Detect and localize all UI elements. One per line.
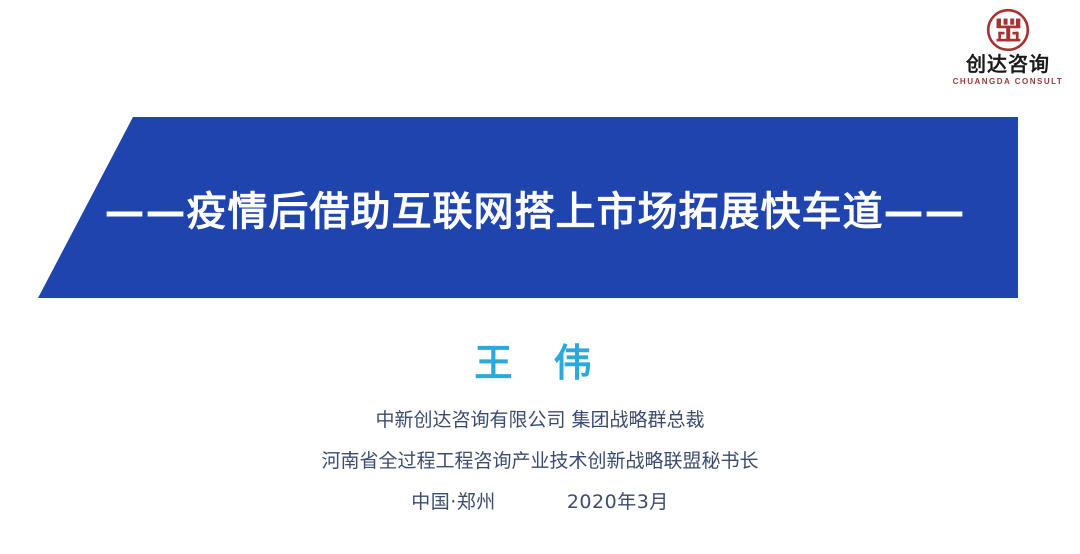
affiliation-line-2: 河南省全过程工程咨询产业技术创新战略联盟秘书长 xyxy=(0,441,1080,482)
event-line: 中国·郑州 2020年3月 xyxy=(0,482,1080,523)
company-logo: 创达咨询 CHUANGDA CONSULT xyxy=(950,8,1066,86)
speaker-name: 王 伟 xyxy=(0,332,1080,387)
company-seal-icon xyxy=(986,8,1030,52)
speaker-info: 中新创达咨询有限公司 集团战略群总裁 河南省全过程工程咨询产业技术创新战略联盟秘… xyxy=(0,400,1080,523)
title-slide: 创达咨询 CHUANGDA CONSULT ——疫情后借助互联网搭上市场拓展快车… xyxy=(0,0,1080,554)
event-location: 中国·郑州 xyxy=(411,491,496,513)
title-banner: ——疫情后借助互联网搭上市场拓展快车道—— xyxy=(38,117,1018,298)
logo-name-en: CHUANGDA CONSULT xyxy=(950,78,1066,86)
affiliation-line-1: 中新创达咨询有限公司 集团战略群总裁 xyxy=(0,400,1080,441)
event-date: 2020年3月 xyxy=(567,491,669,513)
slide-title: ——疫情后借助互联网搭上市场拓展快车道—— xyxy=(91,179,966,237)
logo-name-cn: 创达咨询 xyxy=(950,55,1066,75)
